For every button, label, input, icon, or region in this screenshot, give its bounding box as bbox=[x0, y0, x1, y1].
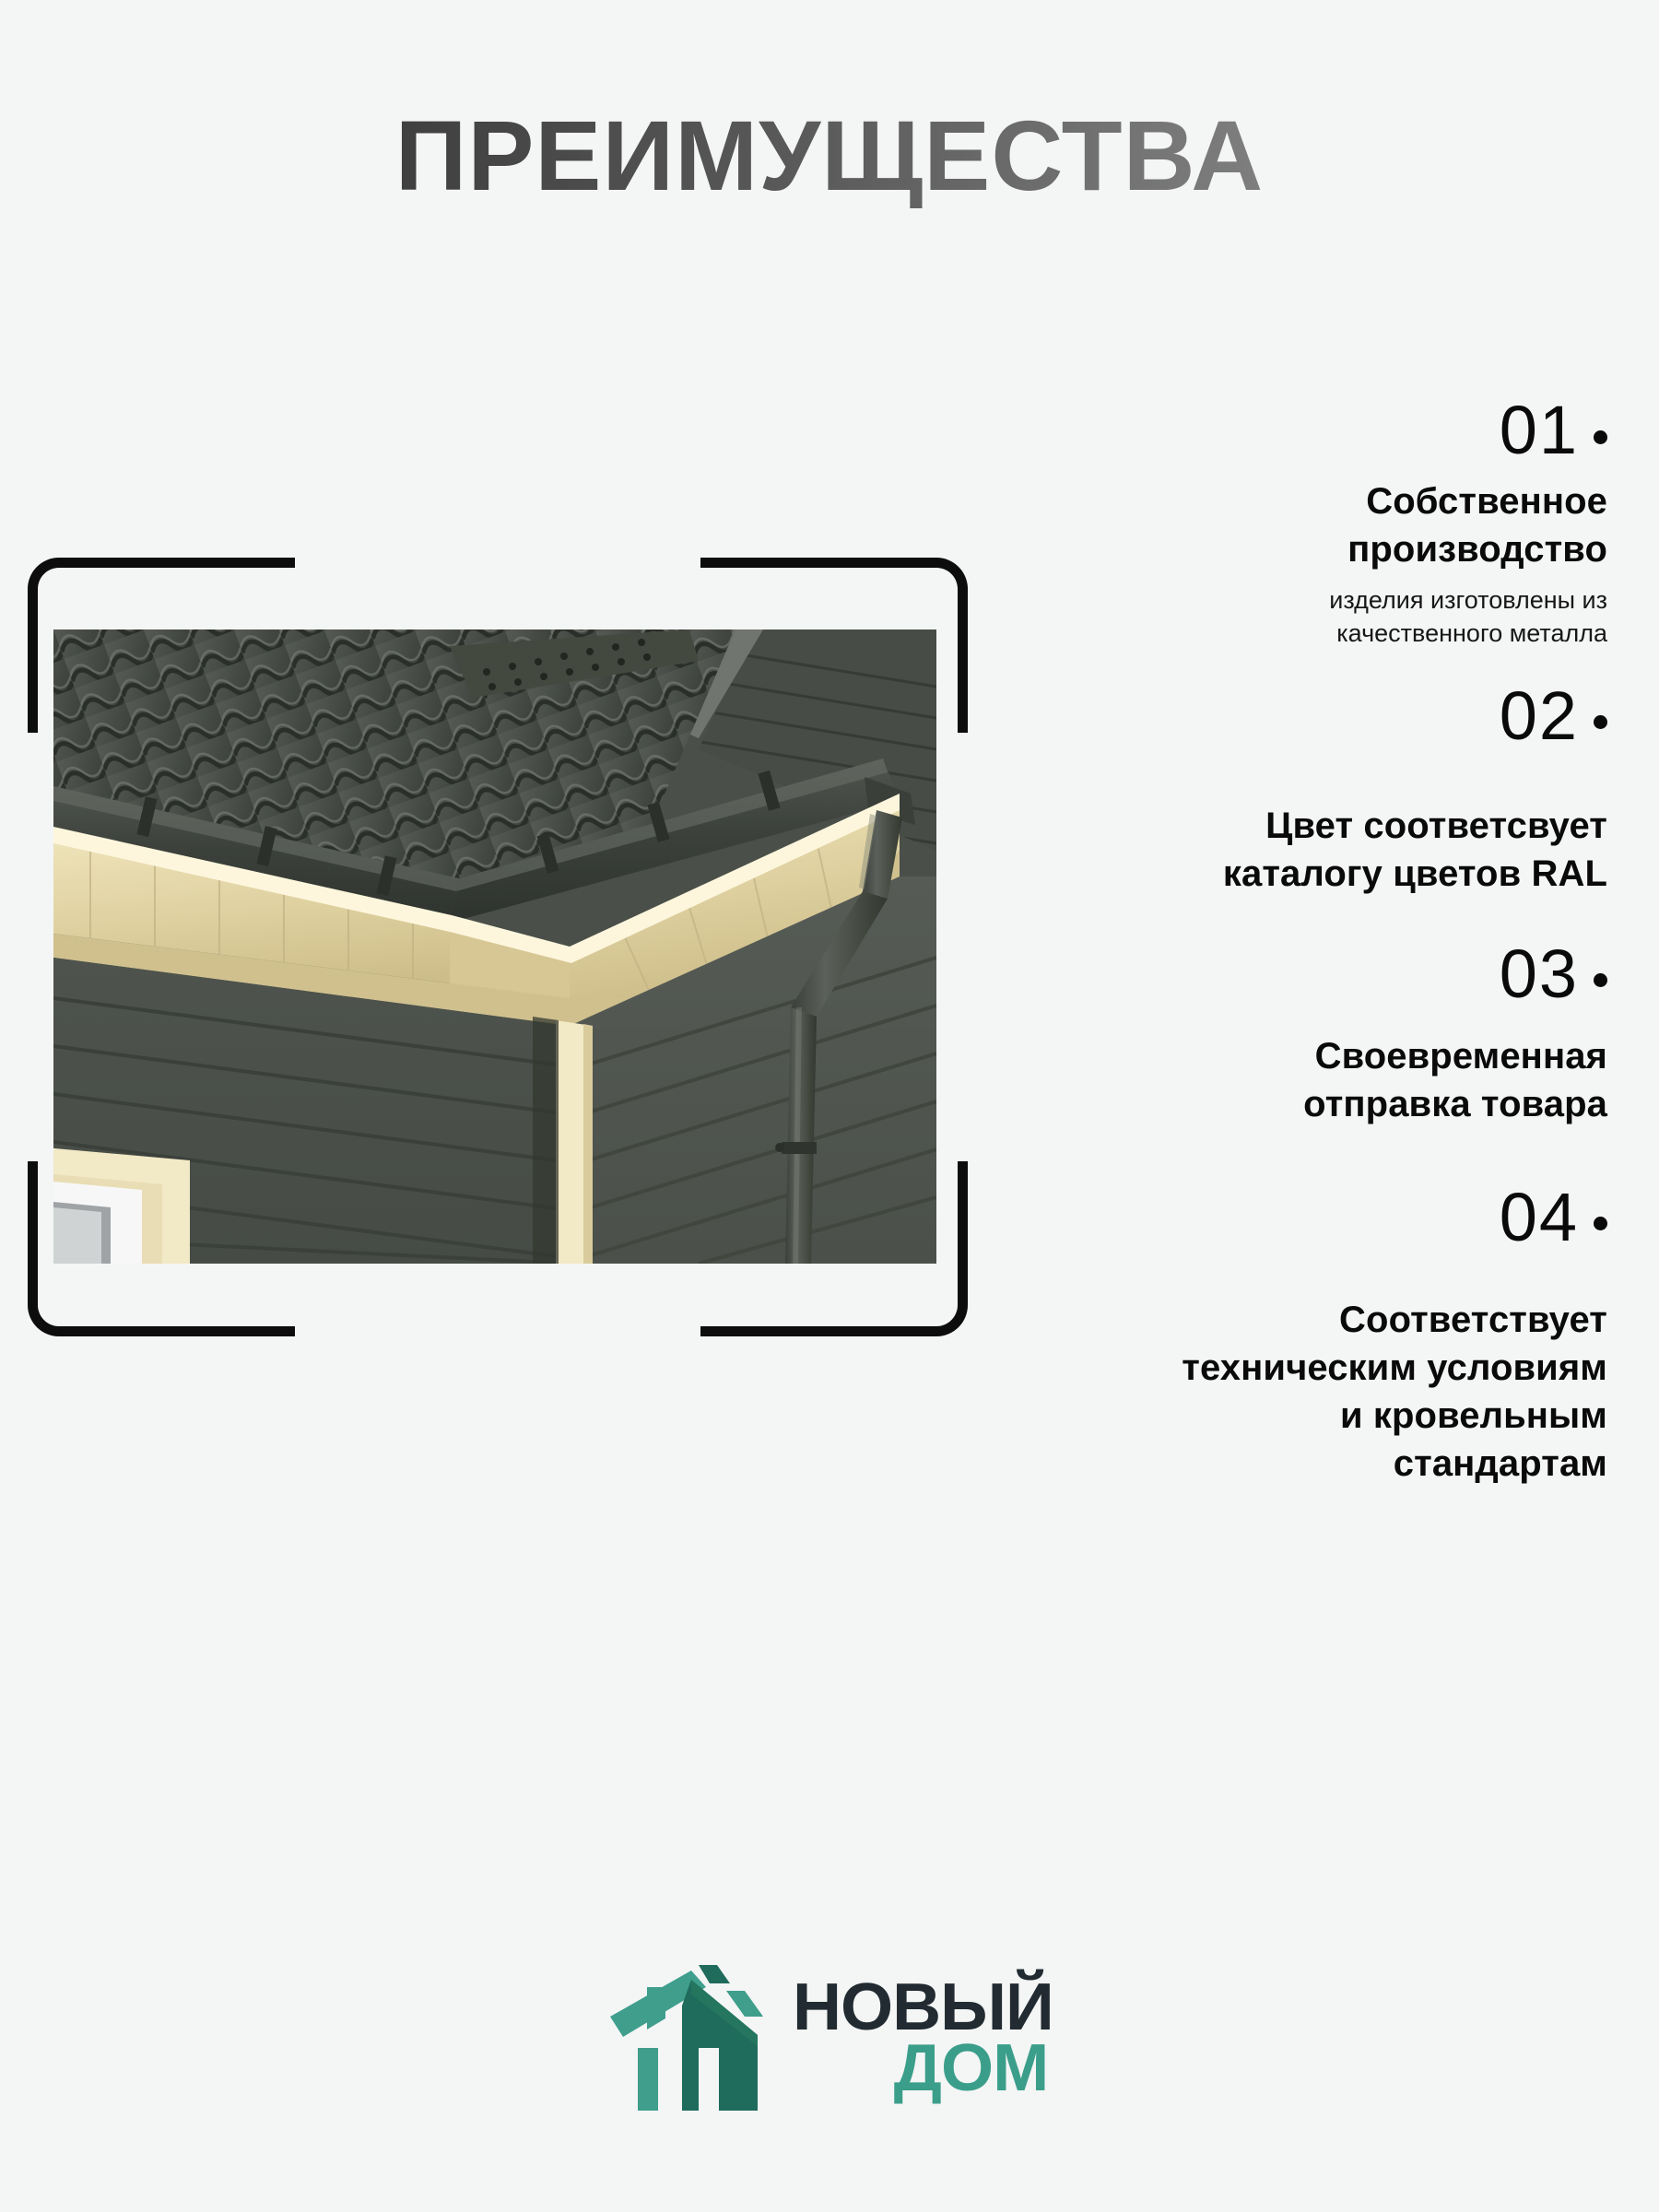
page-title: ПРЕИМУЩЕСТВА bbox=[0, 103, 1659, 208]
feature-number-row-01: 01 bbox=[968, 396, 1613, 465]
product-photo bbox=[53, 629, 936, 1264]
logo-word-top: НОВЫЙ bbox=[793, 1977, 1053, 2038]
bullet-dot-icon bbox=[1594, 973, 1607, 987]
bullet-dot-icon bbox=[1594, 1217, 1607, 1230]
feature-item-02: 02 Цвет соответсвует каталогу цветов RAL bbox=[968, 682, 1613, 898]
infographic-page: ПРЕИМУЩЕСТВА bbox=[0, 0, 1659, 2212]
feature-number-row-04: 04 bbox=[968, 1183, 1613, 1252]
company-logo: НОВЫЙ ДОМ bbox=[0, 1963, 1659, 2112]
feature-list: 01 Собственное производство изделия изго… bbox=[968, 396, 1613, 1512]
photo-frame bbox=[28, 558, 968, 1336]
feature-title-02: Цвет соответсвует каталогу цветов RAL bbox=[968, 802, 1613, 898]
feature-number-row-03: 03 bbox=[968, 940, 1613, 1008]
feature-title-03: Своевременная отправка товара bbox=[968, 1032, 1613, 1128]
house-icon bbox=[610, 1963, 772, 2112]
feature-number-row-02: 02 bbox=[968, 682, 1613, 750]
logo-wordmark: НОВЫЙ ДОМ bbox=[793, 1977, 1048, 2099]
bullet-dot-icon bbox=[1594, 430, 1607, 444]
feature-number-04: 04 bbox=[1500, 1183, 1579, 1252]
bullet-dot-icon bbox=[1594, 715, 1607, 729]
feature-item-03: 03 Своевременная отправка товара bbox=[968, 940, 1613, 1128]
logo-word-bottom: ДОМ bbox=[788, 2038, 1049, 2099]
feature-title-01: Собственное производство bbox=[968, 477, 1613, 573]
feature-item-04: 04 Соответствует техническим условиям и … bbox=[968, 1183, 1613, 1488]
feature-number-02: 02 bbox=[1500, 682, 1579, 750]
feature-item-01: 01 Собственное производство изделия изго… bbox=[968, 396, 1613, 651]
feature-number-01: 01 bbox=[1500, 396, 1579, 465]
feature-title-04: Соответствует техническим условиям и кро… bbox=[968, 1296, 1613, 1488]
feature-subtitle-01: изделия изготовлены из качественного мет… bbox=[968, 584, 1613, 651]
feature-number-03: 03 bbox=[1500, 940, 1579, 1008]
